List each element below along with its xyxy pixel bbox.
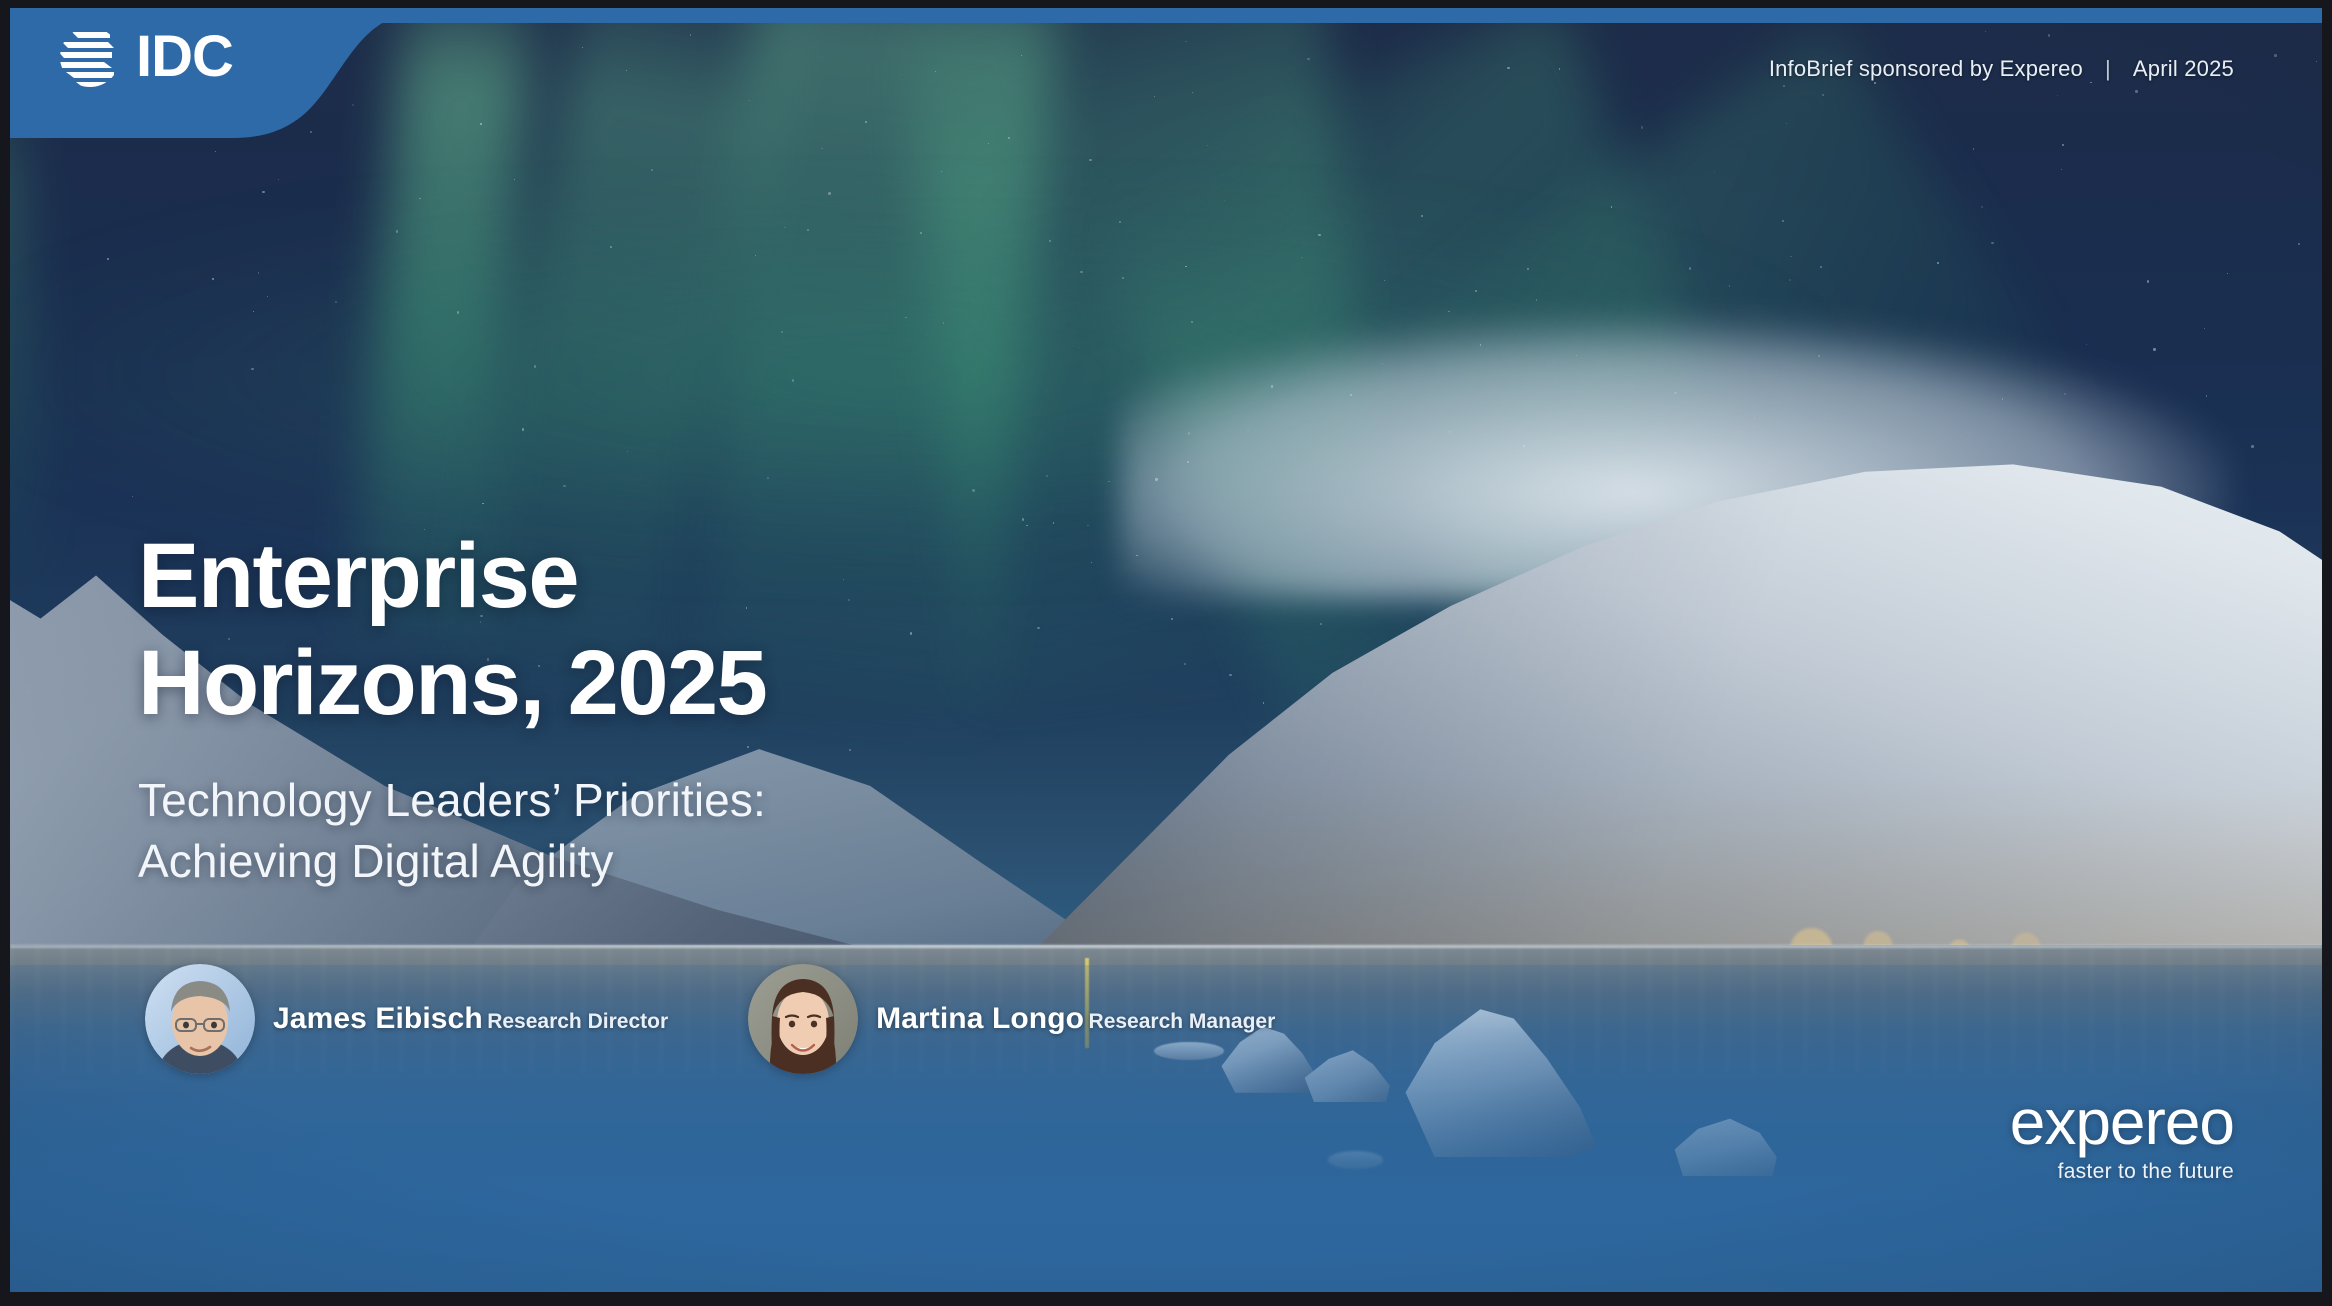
author-item: James Eibisch Research Director <box>145 964 668 1074</box>
idc-globe-icon <box>58 25 122 89</box>
subtitle-line-1: Technology Leaders’ Priorities: <box>138 770 766 831</box>
author-item: Martina Longo Research Manager <box>748 964 1275 1074</box>
title-line-1: Enterprise <box>138 523 766 630</box>
title-line-2: Horizons, 2025 <box>138 630 766 737</box>
publication-date: April 2025 <box>2133 56 2234 82</box>
header-meta: InfoBrief sponsored by Expereo | April 2… <box>1769 56 2234 82</box>
page-title: Enterprise Horizons, 2025 <box>138 523 766 736</box>
author-list: James Eibisch Research Director <box>145 964 1275 1074</box>
avatar <box>748 964 858 1074</box>
author-role: Research Manager <box>1089 1010 1276 1033</box>
expereo-tagline: faster to the future <box>2010 1160 2234 1184</box>
subtitle-line-2: Achieving Digital Agility <box>138 831 766 892</box>
avatar <box>145 964 255 1074</box>
expereo-logo: expereo faster to the future <box>2010 1090 2234 1184</box>
title-block: Enterprise Horizons, 2025 Technology Lea… <box>138 523 766 892</box>
author-name: Martina Longo <box>876 1002 1084 1035</box>
author-role: Research Director <box>487 1010 668 1033</box>
idc-logo[interactable]: IDC <box>58 26 233 88</box>
page-subtitle: Technology Leaders’ Priorities: Achievin… <box>138 770 766 891</box>
expereo-wordmark: expereo <box>2010 1090 2234 1154</box>
idc-wordmark: IDC <box>136 28 233 86</box>
meta-separator: | <box>2105 56 2111 82</box>
author-name: James Eibisch <box>273 1002 483 1035</box>
portrait-photo-female <box>748 964 858 1074</box>
sponsor-line: InfoBrief sponsored by Expereo <box>1769 56 2083 82</box>
author-text: Martina Longo Research Manager <box>876 1001 1275 1036</box>
shoreline <box>10 945 2322 948</box>
author-text: James Eibisch Research Director <box>273 1001 668 1036</box>
slide-frame: IDC InfoBrief sponsored by Expereo | Apr… <box>0 0 2332 1306</box>
cover-slide: IDC InfoBrief sponsored by Expereo | Apr… <box>10 8 2322 1292</box>
portrait-photo-male <box>145 964 255 1074</box>
